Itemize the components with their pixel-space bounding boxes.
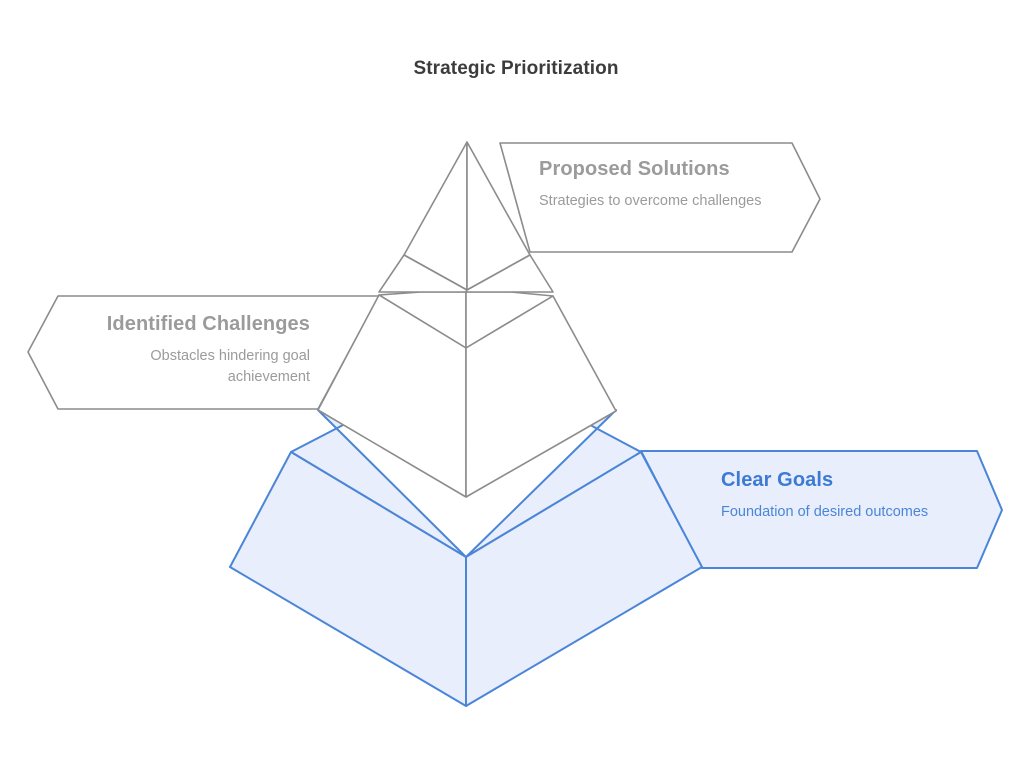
callout-title-top: Proposed Solutions [539, 157, 801, 181]
callout-description-base: Foundation of desired outcomes [721, 502, 983, 523]
callout-title-middle: Identified Challenges [72, 312, 310, 336]
callout-label-base: Clear Goals Foundation of desired outcom… [721, 468, 983, 523]
callout-description-middle: Obstacles hindering goal achievement [72, 346, 310, 388]
diagram-canvas: Strategic Prioritization Proposed Soluti… [0, 0, 1032, 768]
pyramid-tier-base[interactable] [230, 410, 1002, 706]
page-title: Strategic Prioritization [0, 58, 1032, 80]
callout-label-middle: Identified Challenges Obstacles hinderin… [72, 312, 310, 388]
callout-description-top: Strategies to overcome challenges [539, 191, 801, 212]
base-front-face-left [230, 452, 466, 706]
callout-title-base: Clear Goals [721, 468, 983, 492]
callout-label-top: Proposed Solutions Strategies to overcom… [539, 157, 801, 212]
